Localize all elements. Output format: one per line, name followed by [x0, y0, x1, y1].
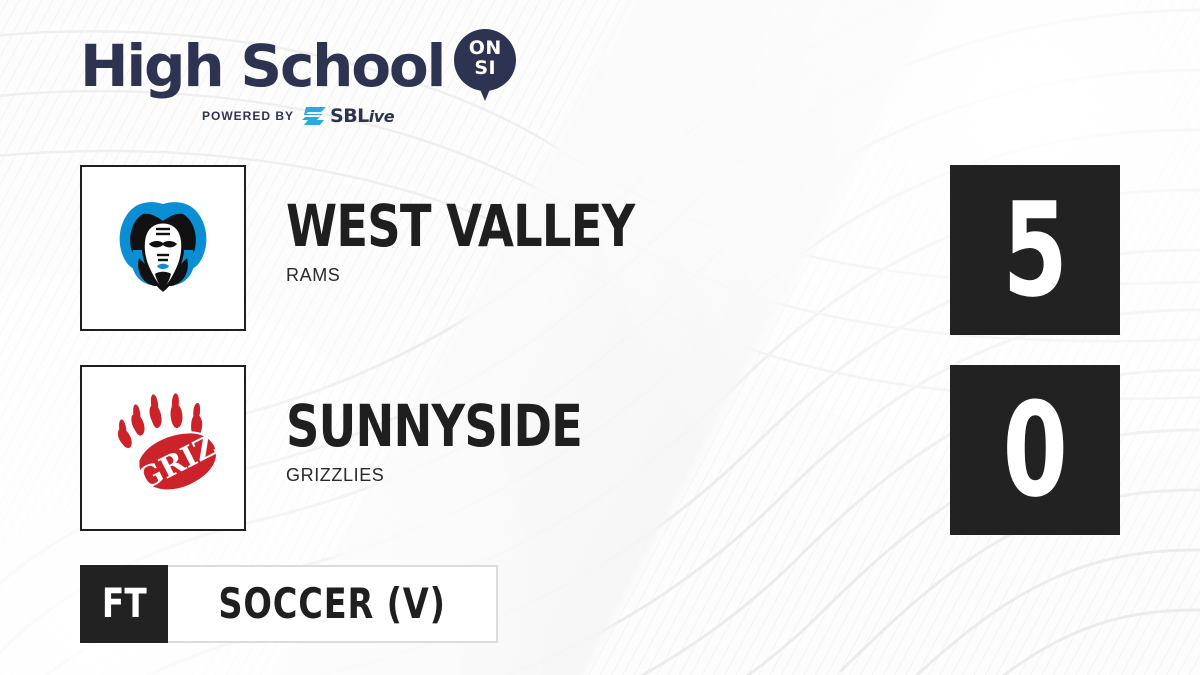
team-name: WEST VALLEY: [286, 197, 782, 255]
powered-by-row: POWERED BY SBLive: [202, 105, 510, 127]
ram-head-icon: [103, 188, 223, 308]
sblive-wordmark: SBLive: [330, 105, 394, 127]
team-score-box: 5: [950, 165, 1120, 335]
pin-label-line1: ON: [454, 38, 516, 58]
team-logo-box: [80, 165, 246, 331]
bear-paw-icon: GRIZ: [103, 388, 223, 508]
team-name: SUNNYSIDE: [286, 397, 782, 455]
game-status-bar: FT SOCCER (V): [80, 565, 498, 643]
team-text: WEST VALLEY RAMS: [286, 197, 906, 286]
team-score-box: 0: [950, 365, 1120, 535]
team-row: WEST VALLEY RAMS 5: [80, 165, 1120, 335]
status-period-label: FT: [102, 584, 147, 624]
sblive-main: SBL: [330, 105, 369, 127]
team-row: GRIZ SUNNYSIDE GRIZZLIES 0: [80, 365, 1120, 535]
team-mascot: RAMS: [286, 265, 906, 286]
team-mascot: GRIZZLIES: [286, 465, 906, 486]
scoreboard-graphic: High School ON SI POWERED BY SBLive: [0, 0, 1200, 675]
brand-wordmark-row: High School ON SI: [80, 34, 510, 98]
status-period-box: FT: [80, 565, 168, 643]
team-text: SUNNYSIDE GRIZZLIES: [286, 397, 906, 486]
brand-wordmark: High School: [80, 37, 444, 95]
brand-logo: High School ON SI POWERED BY SBLive: [80, 34, 510, 134]
status-sport-label: SOCCER (V): [218, 583, 445, 625]
powered-by-label: POWERED BY: [202, 109, 294, 123]
pin-label-line2: SI: [454, 58, 516, 78]
team-score: 5: [1002, 185, 1067, 315]
pin-label: ON SI: [454, 38, 516, 78]
sblive-suffix: ive: [369, 107, 394, 126]
team-logo-box: GRIZ: [80, 365, 246, 531]
on-si-pin-icon: ON SI: [454, 29, 516, 103]
team-score: 0: [1002, 385, 1067, 515]
sblive-bolt-icon: [302, 107, 328, 125]
status-sport-box: SOCCER (V): [168, 565, 498, 643]
